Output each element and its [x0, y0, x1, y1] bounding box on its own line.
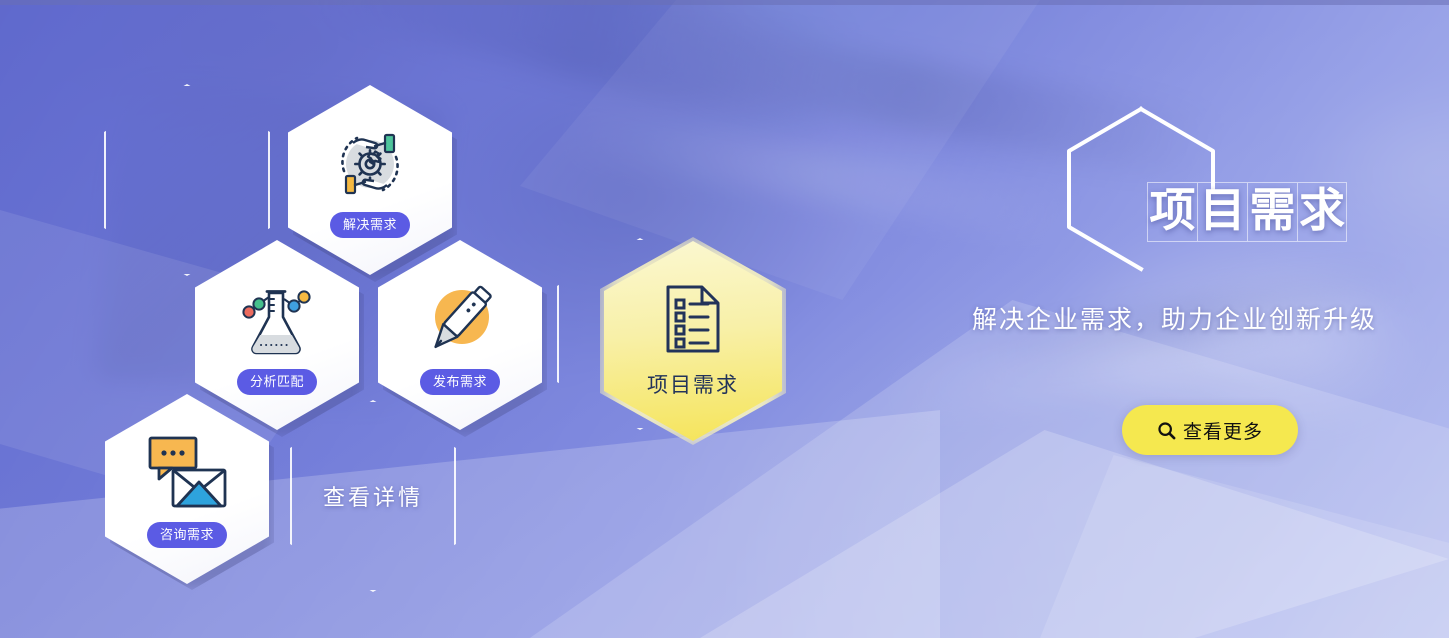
brand-title-cell: 求: [1297, 182, 1347, 242]
hexagon-badge-label: 解决需求: [330, 212, 410, 238]
hero-subtitle: 解决企业需求，助力企业创新升级: [900, 300, 1449, 336]
brand-title-cell: 项: [1147, 182, 1197, 242]
brand-title-char: 求: [1299, 187, 1345, 233]
brand-title-char: 项: [1150, 187, 1196, 233]
hexagon-badge-label: 发布需求: [420, 369, 500, 395]
right-content-panel: 项 目 需 求 解决企业需求，助力企业创新升级 查看更多: [900, 0, 1449, 638]
hands-gear-icon: [323, 122, 417, 206]
brand-title-char: 需: [1250, 187, 1296, 233]
hero-banner: 解决需求: [0, 0, 1449, 638]
pen-icon: [412, 275, 508, 363]
hexagon-label-view-details: 查看详情: [323, 480, 423, 512]
brand-title-cell: 目: [1197, 182, 1247, 242]
chat-envelope-icon: [137, 430, 237, 516]
view-more-label: 查看更多: [1183, 417, 1263, 444]
brand-title-char: 目: [1200, 187, 1246, 233]
search-icon: [1157, 421, 1176, 440]
hexagon-badge-label: 咨询需求: [147, 522, 227, 548]
checklist-document-icon: [662, 283, 724, 355]
view-more-button[interactable]: 查看更多: [1122, 405, 1298, 455]
hexagon-label-project-demand: 项目需求: [647, 369, 739, 399]
brand-title-grid: 项 目 需 求: [1147, 182, 1347, 242]
hexagon-badge-label: 分析匹配: [237, 369, 317, 395]
brand-title-cell: 需: [1247, 182, 1297, 242]
flask-molecule-icon: [229, 275, 325, 363]
